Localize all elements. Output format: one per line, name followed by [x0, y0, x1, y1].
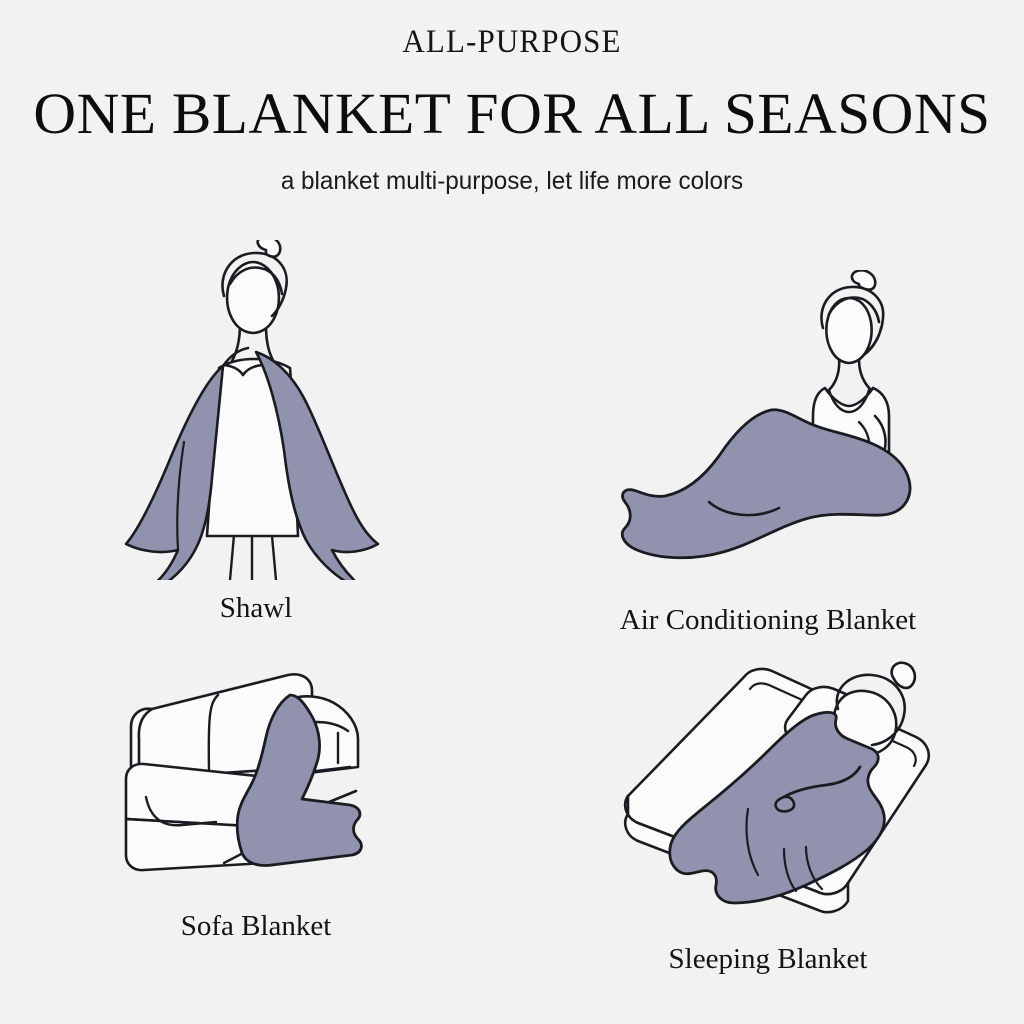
- use-case-sofa-blanket: Sofa Blanket: [0, 655, 512, 1024]
- page-title: ONE BLANKET FOR ALL SEASONS: [0, 85, 1024, 143]
- caption-shawl: Shawl: [220, 594, 293, 623]
- caption-air-conditioning-blanket: Air Conditioning Blanket: [620, 606, 916, 635]
- sofa-with-draped-blanket-icon: [106, 667, 406, 882]
- seated-woman-with-lap-blanket-icon: [603, 270, 933, 560]
- caption-sleeping-blanket: Sleeping Blanket: [669, 945, 868, 974]
- use-case-air-conditioning-blanket: Air Conditioning Blanket: [512, 228, 1024, 655]
- woman-wearing-shawl-icon: [106, 240, 406, 580]
- use-case-sleeping-blanket: Sleeping Blanket: [512, 655, 1024, 1024]
- poster-header: ALL-PURPOSE ONE BLANKET FOR ALL SEASONS …: [0, 0, 1024, 194]
- product-feature-poster: ALL-PURPOSE ONE BLANKET FOR ALL SEASONS …: [0, 0, 1024, 1024]
- use-case-shawl: Shawl: [0, 228, 512, 655]
- eyebrow-text: ALL-PURPOSE: [31, 26, 994, 59]
- subtitle-text: a blanket multi-purpose, let life more c…: [15, 169, 1008, 194]
- caption-sofa-blanket: Sofa Blanket: [181, 912, 332, 941]
- person-sleeping-in-bed-icon: [598, 657, 938, 927]
- use-case-grid: Shawl: [0, 228, 1024, 1024]
